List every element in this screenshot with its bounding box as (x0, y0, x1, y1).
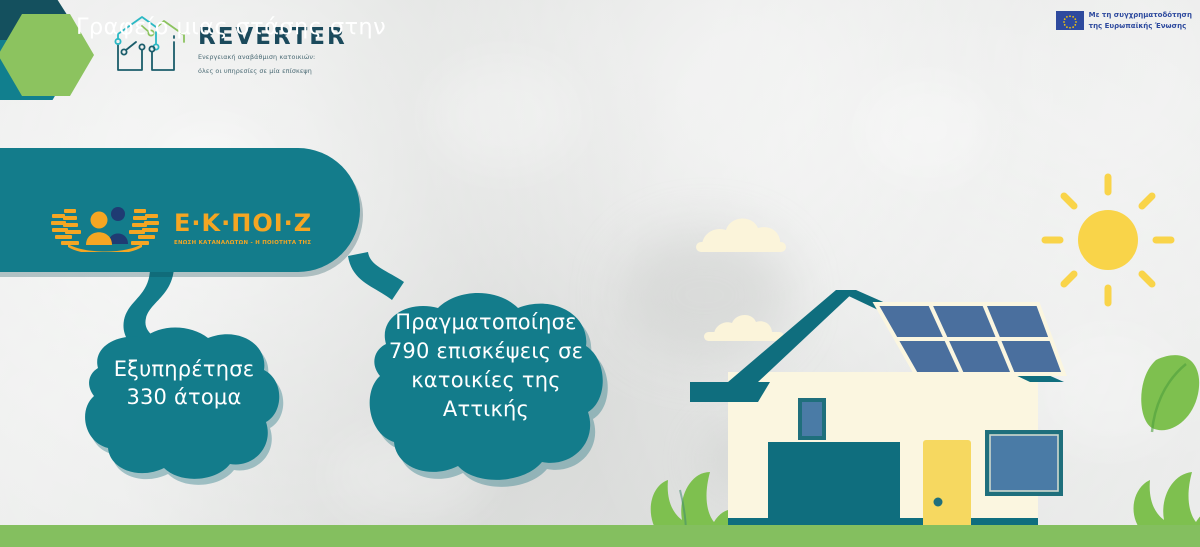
reverter-subtitle-line2: όλες οι υπηρεσίες σε μία επίσκεψη (198, 67, 347, 76)
solar-panel-array (876, 304, 1064, 374)
people-served-line2: 330 άτομα (98, 384, 270, 412)
people-served-line1: Εξυπηρέτησε (98, 356, 270, 384)
home-visits-line4: Αττικής (372, 395, 600, 424)
eu-flag-icon (1056, 11, 1084, 30)
ground-strip (0, 525, 1200, 547)
eu-funding-line1: Με τη συγχρηματοδότηση (1089, 10, 1192, 21)
reverter-subtitle-line1: Ενεργειακή αναβάθμιση κατοικιών: (198, 53, 347, 62)
ekpoizw-tagline: ΕΝΩΣΗ ΚΑΤΑΝΑΛΩΤΩΝ - Η ΠΟΙΟΤΗΤΑ ΤΗΣ ΖΩΗΣ (174, 240, 312, 246)
bubble-home-visits-text: Πραγματοποίησε 790 επισκέψεις σε κατοικί… (372, 308, 600, 424)
attic-window (798, 398, 826, 440)
home-visits-line3: κατοικίες της (372, 366, 600, 395)
eu-funding-text: Με τη συγχρηματοδότηση της Ευρωπαϊκής Έν… (1089, 10, 1192, 31)
eu-funding-statement: Με τη συγχρηματοδότηση της Ευρωπαϊκής Έν… (1056, 10, 1192, 31)
garage-door[interactable] (768, 442, 900, 536)
bubble-people-served-text: Εξυπηρέτησε 330 άτομα (98, 356, 270, 411)
door-knob[interactable] (934, 498, 943, 507)
home-visits-line2: 790 επισκέψεις σε (372, 337, 600, 366)
leaf-icon (1141, 355, 1199, 432)
sun-icon (1045, 177, 1171, 303)
ekpoizw-wordmark: Ε·Κ·ΠΟΙ·Ζω· (174, 209, 312, 237)
bubble-one-stop-shop-text: Γραφείο μιας στάσης στην (76, 14, 386, 40)
cloud-icon (704, 315, 784, 341)
house-window (985, 430, 1063, 496)
home-visits-line1: Πραγματοποίησε (372, 308, 600, 337)
front-door[interactable] (923, 440, 971, 536)
bg-speckle (430, 60, 580, 170)
infographic-canvas: REVERTER Ενεργειακή αναβάθμιση κατοικιών… (0, 0, 1200, 547)
eu-funding-line2: της Ευρωπαϊκής Ένωσης (1089, 21, 1192, 32)
cloud-icon (696, 218, 786, 252)
ekpoizw-logo: Ε·Κ·ΠΟΙ·Ζω· ΕΝΩΣΗ ΚΑΤΑΝΑΛΩΤΩΝ - Η ΠΟΙΟΤΗ… (50, 200, 312, 252)
house-illustration (640, 150, 1200, 547)
